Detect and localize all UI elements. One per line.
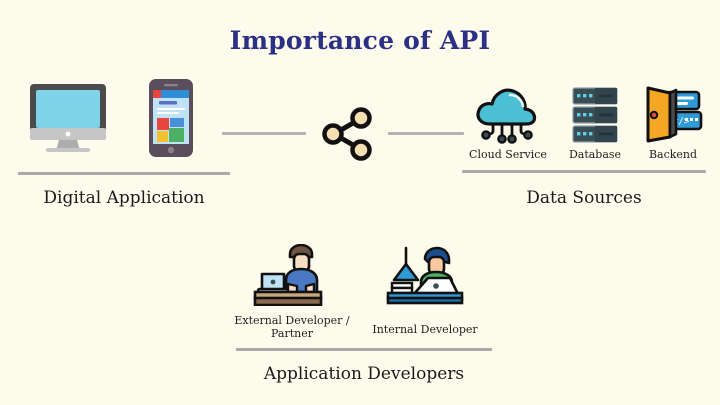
database-label: Database (556, 148, 634, 161)
internal-developer-icon (384, 244, 464, 306)
digital-application-divider (18, 172, 230, 175)
application-developers-label: Application Developers (236, 364, 492, 384)
external-developer-label-line2: Partner (222, 327, 362, 340)
external-developer-label: External Developer / Partner (222, 314, 362, 340)
internal-developer-label: Internal Developer (366, 323, 484, 336)
share-api-icon (318, 106, 376, 162)
data-sources-label: Data Sources (462, 188, 706, 208)
database-icon (570, 86, 620, 144)
connector-right (388, 132, 464, 135)
desktop-monitor-icon (28, 82, 108, 154)
page-title: Importance of API (0, 26, 720, 55)
smartphone-icon (146, 78, 196, 158)
cloud-service-label: Cloud Service (462, 148, 554, 161)
digital-application-label: Digital Application (18, 188, 230, 208)
diagram-canvas: Importance of API (0, 0, 720, 405)
data-sources-divider (462, 170, 706, 173)
backend-icon: </> (642, 84, 704, 146)
connector-left (222, 132, 306, 135)
cloud-service-icon (472, 84, 542, 146)
external-developer-label-line1: External Developer / (222, 314, 362, 327)
external-developer-icon (250, 244, 330, 306)
backend-label: Backend (634, 148, 712, 161)
application-developers-divider (236, 348, 492, 351)
